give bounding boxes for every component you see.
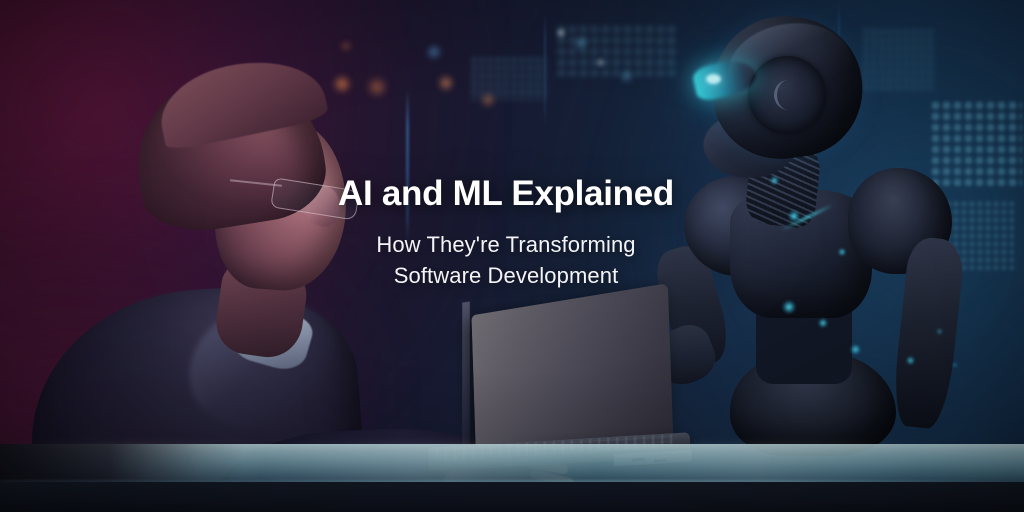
page-subtitle-line-2: Software Development — [306, 260, 706, 291]
hero-text-block: AI and ML Explained How They're Transfor… — [306, 172, 706, 291]
hero-banner: AI and ML Explained How They're Transfor… — [0, 0, 1024, 512]
page-title: AI and ML Explained — [306, 172, 706, 215]
page-subtitle: How They're Transforming Software Develo… — [306, 229, 706, 291]
page-subtitle-line-1: How They're Transforming — [306, 229, 706, 260]
